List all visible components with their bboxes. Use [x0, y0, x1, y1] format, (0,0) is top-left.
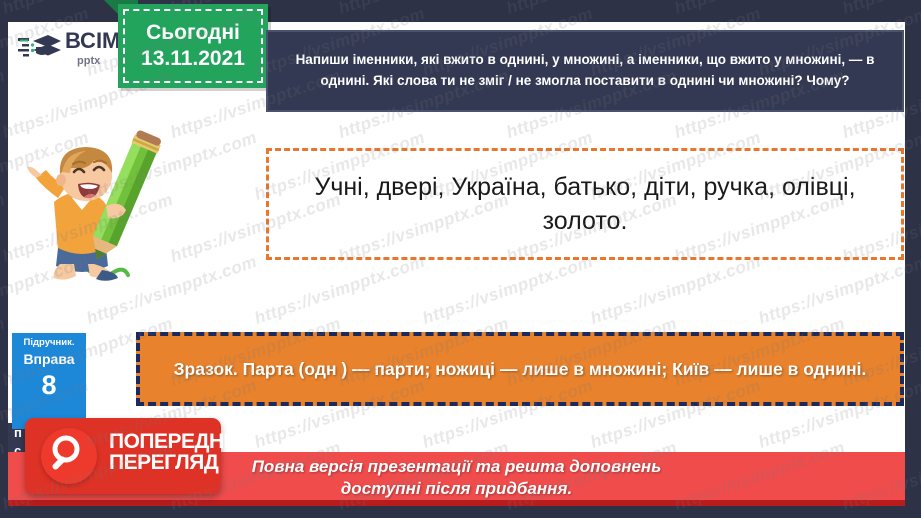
graduation-cap-icon: [16, 30, 62, 69]
purchase-notice-line-2: доступні після придбання.: [341, 479, 572, 498]
date-tag-label: Сьогодні: [146, 20, 240, 46]
purchase-notice-text: Повна версія презентації та решта доповн…: [252, 456, 662, 500]
exercise-word-label: Вправа: [23, 350, 74, 368]
preview-badge-line-1: ПОПЕРЕДНІЙ: [109, 431, 244, 452]
logo-main-text: ВСІМ: [65, 28, 120, 53]
watermark-text: https://vsimpptx.com: [0, 190, 8, 267]
preview-badge-line-2: ПЕРЕГЛЯД: [109, 452, 244, 473]
watermark-text: https://vsimpptx.com: [0, 438, 8, 515]
answer-text: Учні, двері, Україна, батько, діти, ручк…: [269, 170, 901, 239]
date-tag-value: 13.11.2021: [141, 46, 245, 72]
watermark-text: https://vsimpptx.com: [0, 0, 8, 19]
watermark-text: https://vsimpptx.com: [672, 0, 848, 19]
preview-badge[interactable]: ПОПЕРЕДНІЙ ПЕРЕГЛЯД: [25, 418, 221, 494]
exercise-source-label: Підручник.: [24, 337, 75, 349]
purchase-notice-line-1: Повна версія презентації та решта доповн…: [252, 457, 662, 476]
sample-answer-banner: Зразок. Парта (одн ) — парти; ножиці — л…: [136, 332, 904, 406]
task-instruction-text: Напиши іменники, які вжито в однині, у м…: [268, 50, 902, 92]
watermark-text: https://vsimpptx.com: [504, 0, 680, 19]
exercise-tab: Підручник. Вправа 8: [12, 333, 86, 429]
boy-with-pencil-illustration: [10, 128, 170, 288]
sample-answer-text: Зразок. Парта (одн ) — парти; ножиці — л…: [160, 356, 881, 382]
preview-badge-text: ПОПЕРЕДНІЙ ПЕРЕГЛЯД: [109, 431, 244, 474]
watermark-text: https://vsimpptx.com: [840, 0, 921, 19]
watermark-text: https://vsimpptx.com: [0, 314, 8, 391]
exercise-number: 8: [41, 372, 56, 399]
purchase-notice-underbar: [8, 500, 905, 506]
watermark-text: https://vsimpptx.com: [336, 0, 512, 19]
task-instruction-box: Напиши іменники, які вжито в однині, у м…: [266, 30, 904, 112]
logo-sub-text: pptx: [77, 55, 100, 67]
watermark-text: https://vsimpptx.com: [0, 66, 8, 143]
magnifier-icon: [41, 428, 97, 484]
presentation-slide: ВСІМ pptx Сьогодні 13.11.2021 Напиши іме…: [0, 0, 921, 518]
answer-dashed-box: Учні, двері, Україна, батько, діти, ручк…: [266, 148, 904, 260]
brand-logo: ВСІМ pptx: [8, 22, 130, 76]
date-tag: Сьогодні 13.11.2021: [118, 4, 268, 88]
